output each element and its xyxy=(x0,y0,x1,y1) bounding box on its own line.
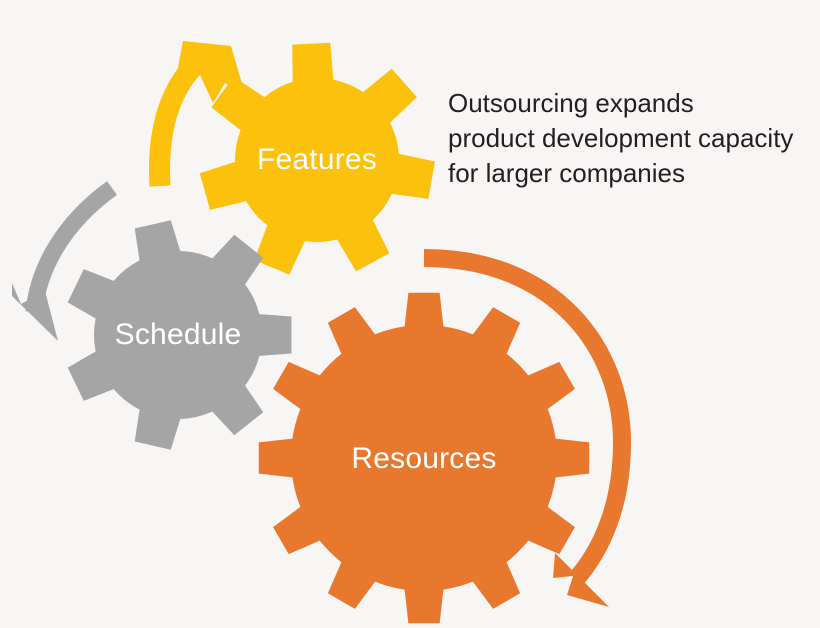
gear-diagram-canvas: Features Schedule Resources Outsourcing … xyxy=(0,0,820,628)
gear-label-features: Features xyxy=(257,143,377,177)
caption-text: Outsourcing expands product development … xyxy=(448,86,818,191)
gear-label-resources: Resources xyxy=(351,442,496,476)
gear-label-schedule: Schedule xyxy=(115,318,242,352)
